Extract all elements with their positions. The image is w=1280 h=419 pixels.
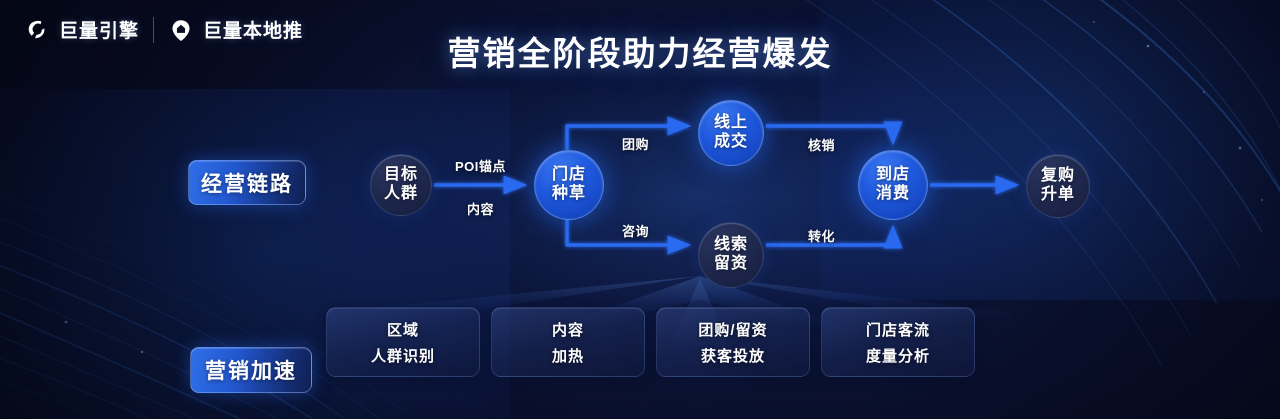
node-online-line2: 成交	[714, 133, 748, 152]
node-lead-line1: 线索	[714, 236, 748, 255]
card-groupbuy-line1: 团购/留资	[698, 319, 767, 340]
slide-canvas: 巨量引擎 巨量本地推 营销全阶段助力经营爆发	[0, 0, 1280, 419]
edge-label-groupbuy: 团购	[622, 134, 649, 153]
node-online-transaction[interactable]: 线上 成交	[698, 100, 764, 166]
node-target-audience[interactable]: 目标 人群	[370, 154, 432, 216]
node-store-seeding[interactable]: 门店 种草	[534, 150, 604, 220]
section-pill-accelerate[interactable]: 营销加速	[190, 347, 312, 393]
node-lead-line2: 留资	[714, 255, 748, 274]
node-repeat-purchase[interactable]: 复购 升单	[1026, 154, 1090, 218]
section-pill-chain[interactable]: 经营链路	[188, 160, 306, 205]
node-lead-capture[interactable]: 线索 留资	[698, 222, 764, 288]
node-instore-line1: 到店	[876, 166, 910, 185]
card-traffic-line2: 度量分析	[866, 345, 930, 366]
accelerate-card-traffic[interactable]: 门店客流 度量分析	[821, 307, 975, 377]
node-online-line1: 线上	[714, 114, 748, 133]
edge-label-poi-anchor: POI锚点	[455, 156, 506, 175]
card-region-line1: 区域	[387, 319, 419, 340]
node-repeat-line2: 升单	[1041, 186, 1075, 205]
accelerate-card-groupbuy-lead[interactable]: 团购/留资 获客投放	[656, 307, 810, 377]
node-instore-line2: 消费	[876, 185, 910, 204]
card-groupbuy-line2: 获客投放	[701, 345, 765, 366]
node-instore-consumption[interactable]: 到店 消费	[858, 150, 928, 220]
node-store-line1: 门店	[552, 166, 586, 185]
node-store-line2: 种草	[552, 185, 586, 204]
page-title: 营销全阶段助力经营爆发	[0, 27, 1280, 75]
node-audience-line1: 目标	[384, 166, 418, 185]
node-audience-line2: 人群	[384, 185, 418, 204]
card-content-line2: 加热	[552, 345, 584, 366]
accelerate-card-list: 区域 人群识别 内容 加热 团购/留资 获客投放 门店客流 度量分析	[326, 307, 975, 377]
node-repeat-line1: 复购	[1041, 167, 1075, 186]
card-region-line2: 人群识别	[371, 345, 435, 366]
edge-label-convert: 转化	[808, 226, 835, 245]
edge-label-content: 内容	[467, 199, 494, 218]
accelerate-card-region[interactable]: 区域 人群识别	[326, 307, 480, 377]
accelerate-card-content[interactable]: 内容 加热	[491, 307, 645, 377]
card-content-line1: 内容	[552, 319, 584, 340]
edge-label-consult: 咨询	[622, 221, 649, 240]
edge-label-redeem: 核销	[808, 135, 835, 154]
card-traffic-line1: 门店客流	[866, 319, 930, 340]
